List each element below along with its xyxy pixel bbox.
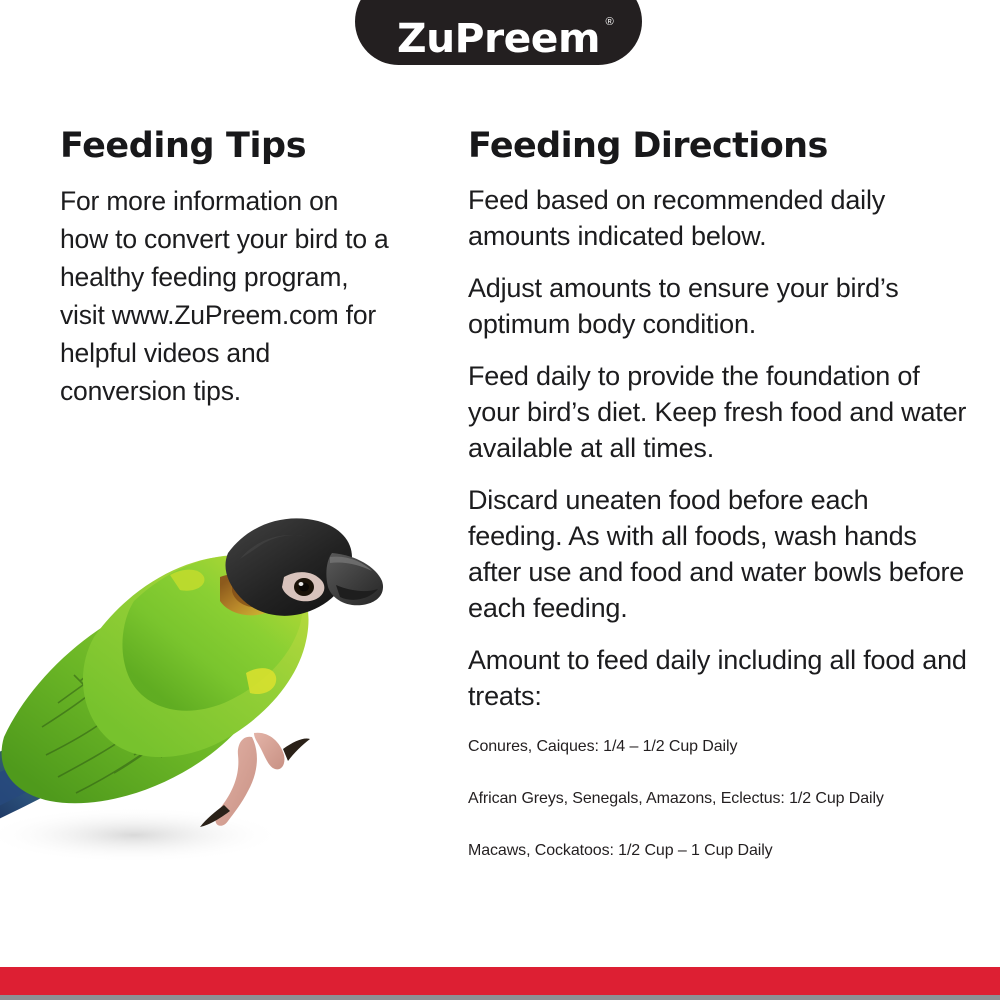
zupreem-logo: ZuPreem® <box>355 0 642 65</box>
bird-throat-dark <box>232 580 275 608</box>
bird-feather-detail <box>42 605 192 793</box>
logo-wordmark-text: ZuPreem <box>397 16 600 62</box>
feeding-directions-paragraph: Discard uneaten food before each feeding… <box>468 482 968 626</box>
bird-claw-upper <box>283 738 310 761</box>
feeding-directions-paragraph: Feed daily to provide the foundation of … <box>468 358 968 466</box>
feeding-directions-heading: Feeding Directions <box>468 126 968 166</box>
bird-tail-blue <box>0 743 76 813</box>
bird-tail <box>0 715 119 823</box>
bird-claw-lower <box>200 805 230 827</box>
bird-breast <box>83 556 309 757</box>
bird-body <box>122 555 302 711</box>
bird-throat-collar <box>220 572 280 615</box>
feeding-panel: ZuPreem® Feeding Tips For more informati… <box>0 0 1000 1000</box>
bird-shoulder-patch <box>246 668 276 694</box>
bird-eye <box>294 578 314 596</box>
bird-eye-ring <box>282 572 324 601</box>
bird-beak <box>326 553 383 605</box>
bird-shadow <box>0 807 284 863</box>
list-item: African Greys, Senegals, Amazons, Eclect… <box>468 788 968 810</box>
feeding-tips-column: Feeding Tips For more information on how… <box>60 126 390 426</box>
bird-wing <box>2 585 282 804</box>
bottom-edge-strip <box>0 995 1000 1000</box>
conure-bird-image <box>0 505 404 925</box>
feeding-directions-column: Feeding Directions Feed based on recomme… <box>468 126 968 862</box>
feeding-amounts-list: Conures, Caiques: 1/4 – 1/2 Cup Daily Af… <box>468 736 968 862</box>
bird-head-highlight <box>240 535 306 559</box>
logo-wordmark: ZuPreem® <box>397 19 600 59</box>
list-item: Conures, Caiques: 1/4 – 1/2 Cup Daily <box>468 736 968 758</box>
bottom-red-band <box>0 967 1000 995</box>
bird-beak-lower <box>336 585 378 600</box>
registered-trademark-icon: ® <box>605 17 613 28</box>
feeding-directions-paragraph: Feed based on recommended daily amounts … <box>468 182 968 254</box>
list-item: Macaws, Cockatoos: 1/2 Cup – 1 Cup Daily <box>468 840 968 862</box>
feeding-tips-heading: Feeding Tips <box>60 126 390 166</box>
feeding-directions-paragraph: Adjust amounts to ensure your bird’s opt… <box>468 270 968 342</box>
bird-head <box>225 518 352 615</box>
bird-nape-patch <box>170 570 204 591</box>
bird-pupil <box>299 583 309 592</box>
bird-toe-upper <box>254 733 284 770</box>
feeding-directions-paragraph: Amount to feed daily including all food … <box>468 642 968 714</box>
feeding-tips-paragraph: For more information on how to convert y… <box>60 182 390 410</box>
bird-beak-highlight <box>330 557 372 571</box>
bird-leg <box>215 737 256 826</box>
bird-eye-glint <box>299 582 304 586</box>
